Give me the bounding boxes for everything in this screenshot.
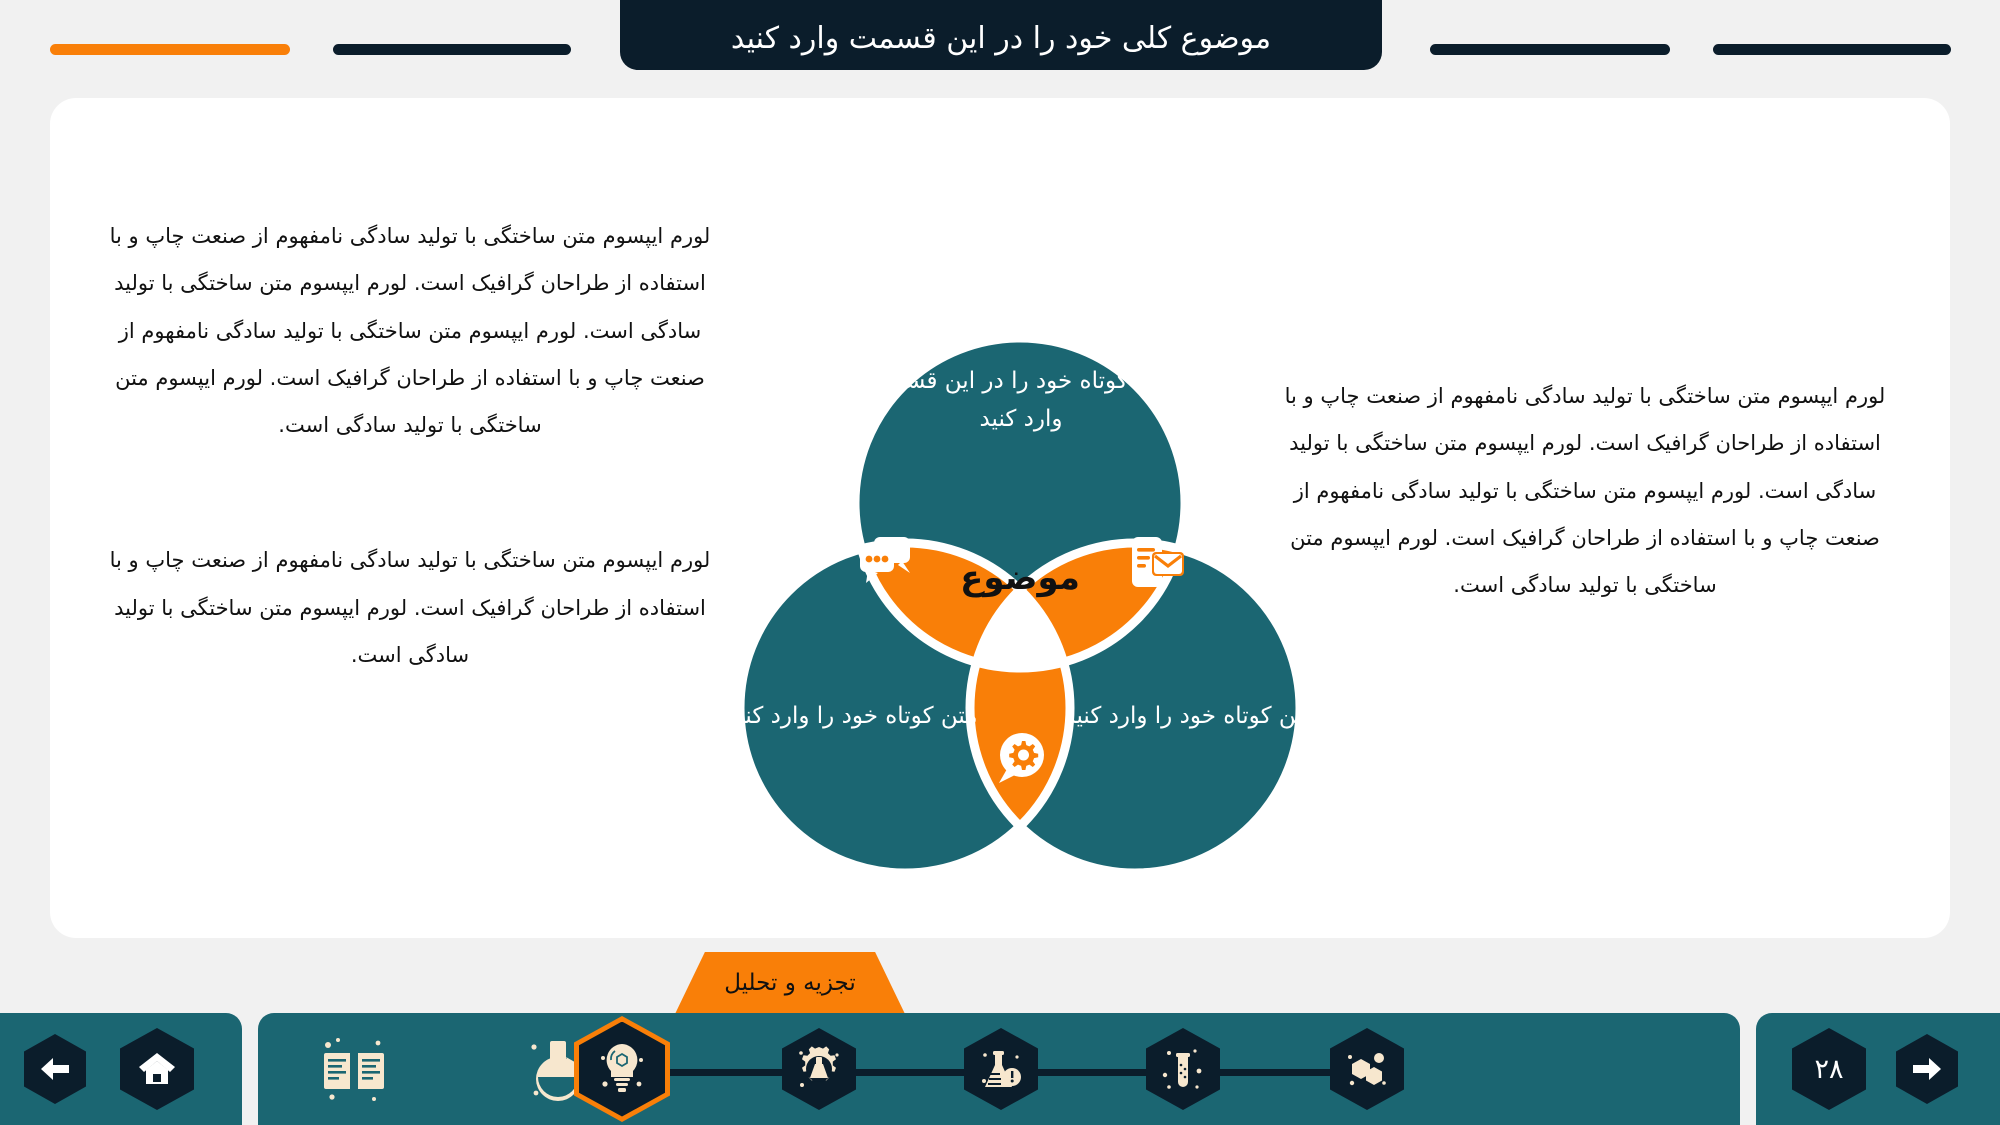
venn-center-label: موضوع xyxy=(925,558,1115,598)
page-number-badge: ۲۸ xyxy=(1792,1028,1866,1110)
page-title: موضوع کلی خود را در این قسمت وارد کنید xyxy=(731,21,1271,56)
right-paragraph-1: لورم ایپسوم متن ساختگی با تولید سادگی نا… xyxy=(1275,373,1895,609)
analysis-tab[interactable]: تجزیه و تحلیل xyxy=(675,952,905,1014)
gear-flask-icon[interactable] xyxy=(782,1028,856,1110)
dark-rule-2 xyxy=(1430,44,1670,55)
left-paragraph-1: لورم ایپسوم متن ساختگی با تولید سادگی نا… xyxy=(105,213,715,449)
left-paragraph-2: لورم ایپسوم متن ساختگی با تولید سادگی نا… xyxy=(105,537,715,679)
left-text-column: لورم ایپسوم متن ساختگی با تولید سادگی نا… xyxy=(105,213,715,679)
venn-diagram: متن کوتاه خود را در این قسمت وارد کنید م… xyxy=(690,303,1350,943)
mobile-envelope-icon xyxy=(1130,535,1186,589)
header-bar: موضوع کلی خود را در این قسمت وارد کنید xyxy=(620,0,1382,70)
gear-bubble-icon xyxy=(995,731,1047,785)
content-card: لورم ایپسوم متن ساختگی با تولید سادگی نا… xyxy=(50,98,1950,938)
warning-flask-icon[interactable] xyxy=(964,1028,1038,1110)
nav-right-panel: ۲۸ xyxy=(1756,1013,2000,1125)
chat-bubbles-icon xyxy=(858,535,914,585)
dark-rule-1 xyxy=(333,44,571,55)
open-book-icon[interactable] xyxy=(316,1031,392,1111)
analysis-tab-label: تجزیه و تحلیل xyxy=(724,970,856,996)
back-arrow-icon[interactable] xyxy=(24,1034,86,1104)
nav-left-panel xyxy=(0,1013,242,1125)
page-number-label: ۲۸ xyxy=(1815,1054,1844,1085)
slide-root: موضوع کلی خود را در این قسمت وارد کنید ل… xyxy=(0,0,2000,1125)
nav-steps-panel xyxy=(258,1013,1740,1125)
right-text-column: لورم ایپسوم متن ساختگی با تولید سادگی نا… xyxy=(1275,373,1895,609)
dark-rule-3 xyxy=(1713,44,1951,55)
molecule-icon[interactable] xyxy=(1330,1028,1404,1110)
orange-rule xyxy=(50,44,290,55)
home-icon[interactable] xyxy=(120,1028,194,1110)
forward-arrow-icon[interactable] xyxy=(1896,1034,1958,1104)
test-tube-icon[interactable] xyxy=(1146,1028,1220,1110)
